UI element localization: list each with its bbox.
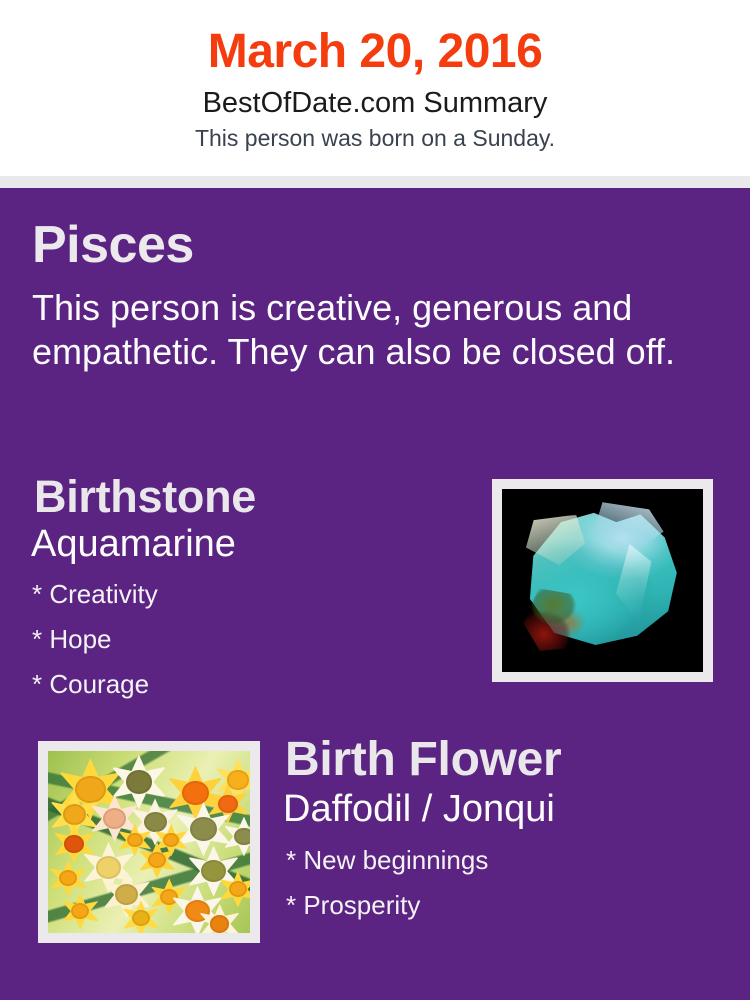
birth-flower-image-frame (38, 741, 260, 943)
daffodil-bloom (48, 860, 88, 896)
list-item: * Creativity (32, 572, 158, 617)
born-day-note: This person was born on a Sunday. (0, 120, 750, 152)
list-item: * Hope (32, 617, 158, 662)
birthstone-image-frame (492, 479, 713, 682)
list-item: * Courage (32, 662, 158, 707)
birthstone-heading: Birthstone (34, 472, 256, 522)
daffodil-bloom (137, 842, 177, 878)
daffodil-field-icon (48, 751, 250, 933)
header-divider (0, 176, 750, 188)
zodiac-description: This person is creative, generous and em… (32, 286, 708, 374)
birthstone-trait-list: * Creativity * Hope * Courage (32, 572, 158, 707)
details-panel: Pisces This person is creative, generous… (0, 188, 750, 1000)
daffodil-bloom (60, 893, 100, 929)
list-item: * Prosperity (286, 883, 488, 928)
list-item: * New beginnings (286, 838, 488, 883)
page-title-date: March 20, 2016 (0, 0, 750, 80)
summary-card: March 20, 2016 BestOfDate.com Summary Th… (0, 0, 750, 1000)
daffodil-bloom (121, 900, 161, 933)
birth-flower-heading: Birth Flower (285, 733, 561, 787)
page-header: March 20, 2016 BestOfDate.com Summary Th… (0, 0, 750, 176)
aquamarine-crystal-icon (502, 489, 703, 672)
daffodil-bloom (218, 871, 250, 907)
birth-flower-name: Daffodil / Jonqui (283, 787, 555, 831)
daffodil-bloom (197, 904, 241, 933)
site-subtitle: BestOfDate.com Summary (0, 80, 750, 120)
birth-flower-trait-list: * New beginnings * Prosperity (286, 838, 488, 928)
zodiac-sign-title: Pisces (32, 216, 194, 274)
birthstone-name: Aquamarine (31, 522, 236, 566)
